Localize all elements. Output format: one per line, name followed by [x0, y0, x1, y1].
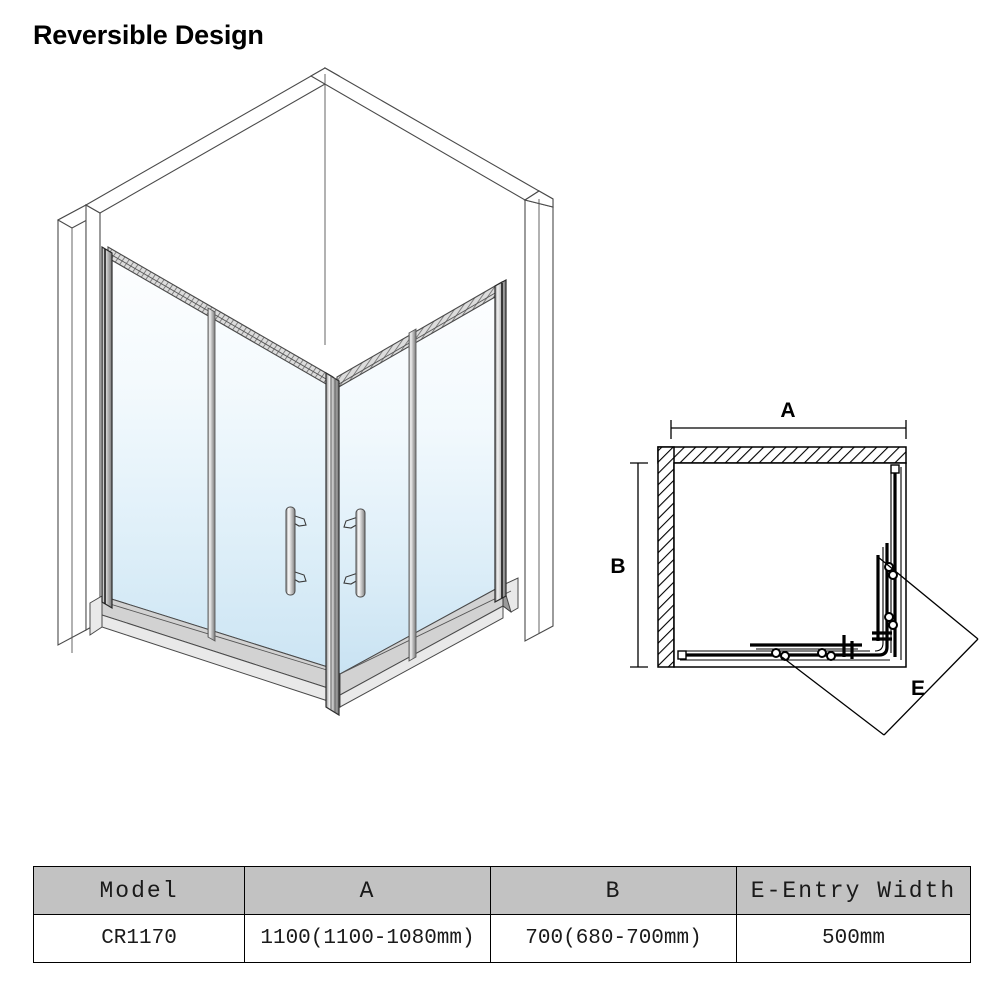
spec-table: Model A B E-Entry Width CR1170 1100(1100…: [33, 866, 971, 963]
dimension-b-label: B: [610, 555, 625, 578]
product-spec-sheet: Reversible Design: [0, 0, 1001, 1001]
post-right: [495, 280, 506, 602]
table-header-row: Model A B E-Entry Width: [34, 867, 971, 915]
dimension-b: B: [610, 463, 648, 667]
header-b: B: [491, 867, 737, 915]
dimension-e-label: E: [911, 677, 925, 700]
cell-model: CR1170: [34, 915, 245, 963]
header-model: Model: [34, 867, 245, 915]
mullion-left: [208, 308, 215, 641]
cell-b: 700(680-700mm): [491, 915, 737, 963]
floor-plan-top-view: A B: [600, 395, 990, 770]
cell-e-entry-width: 500mm: [737, 915, 971, 963]
header-a: A: [245, 867, 491, 915]
post-left: [102, 247, 112, 608]
cell-a: 1100(1100-1080mm): [245, 915, 491, 963]
isometric-shower-enclosure: [40, 55, 600, 775]
mullion-right: [409, 329, 416, 661]
corner-post: [326, 373, 339, 715]
page-title: Reversible Design: [33, 20, 264, 51]
header-e-entry-width: E-Entry Width: [737, 867, 971, 915]
table-row: CR1170 1100(1100-1080mm) 700(680-700mm) …: [34, 915, 971, 963]
enclosure-outline: [674, 463, 906, 667]
dimension-a-label: A: [780, 399, 795, 422]
dimension-a: A: [671, 399, 906, 439]
